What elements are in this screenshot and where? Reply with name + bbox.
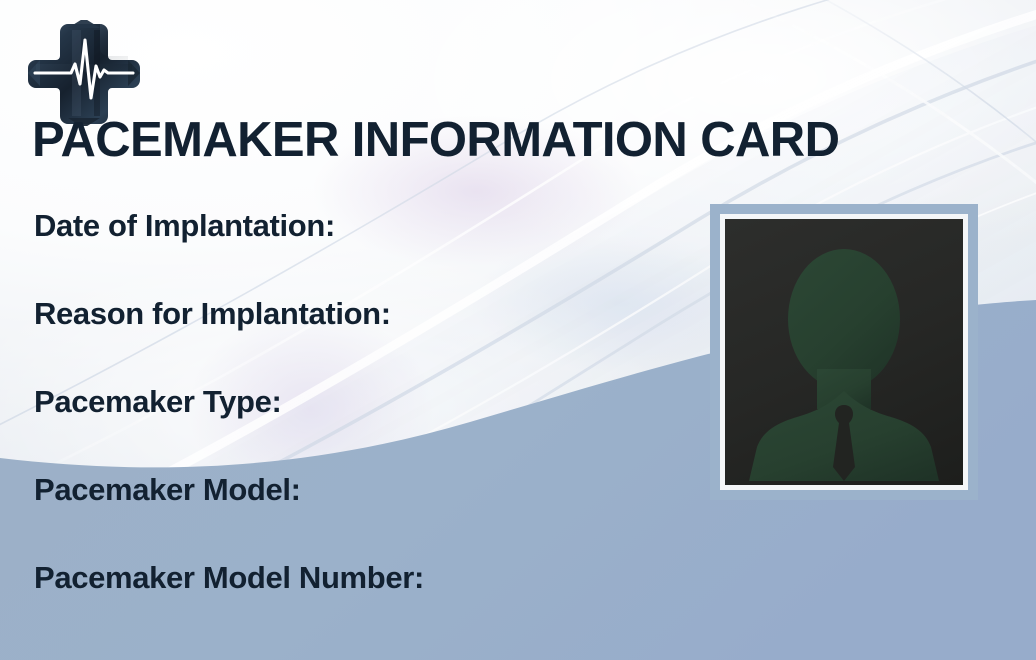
photo-inner-border [720,214,968,490]
page-title: PACEMAKER INFORMATION CARD [32,116,839,166]
photo-placeholder [725,219,963,485]
field-label-pacemaker-model: Pacemaker Model: [34,474,674,505]
field-label-list: Date of Implantation: Reason for Implant… [34,210,674,593]
field-label-reason-for-implantation: Reason for Implantation: [34,298,674,329]
field-label-date-of-implantation: Date of Implantation: [34,210,674,241]
medical-cross-ecg-icon [28,20,140,126]
pacemaker-information-card: PACEMAKER INFORMATION CARD Date of Impla… [0,0,1036,660]
photo-frame [710,204,978,500]
field-label-pacemaker-type: Pacemaker Type: [34,386,674,417]
field-label-pacemaker-model-number: Pacemaker Model Number: [34,562,674,593]
person-silhouette-icon [725,219,963,485]
